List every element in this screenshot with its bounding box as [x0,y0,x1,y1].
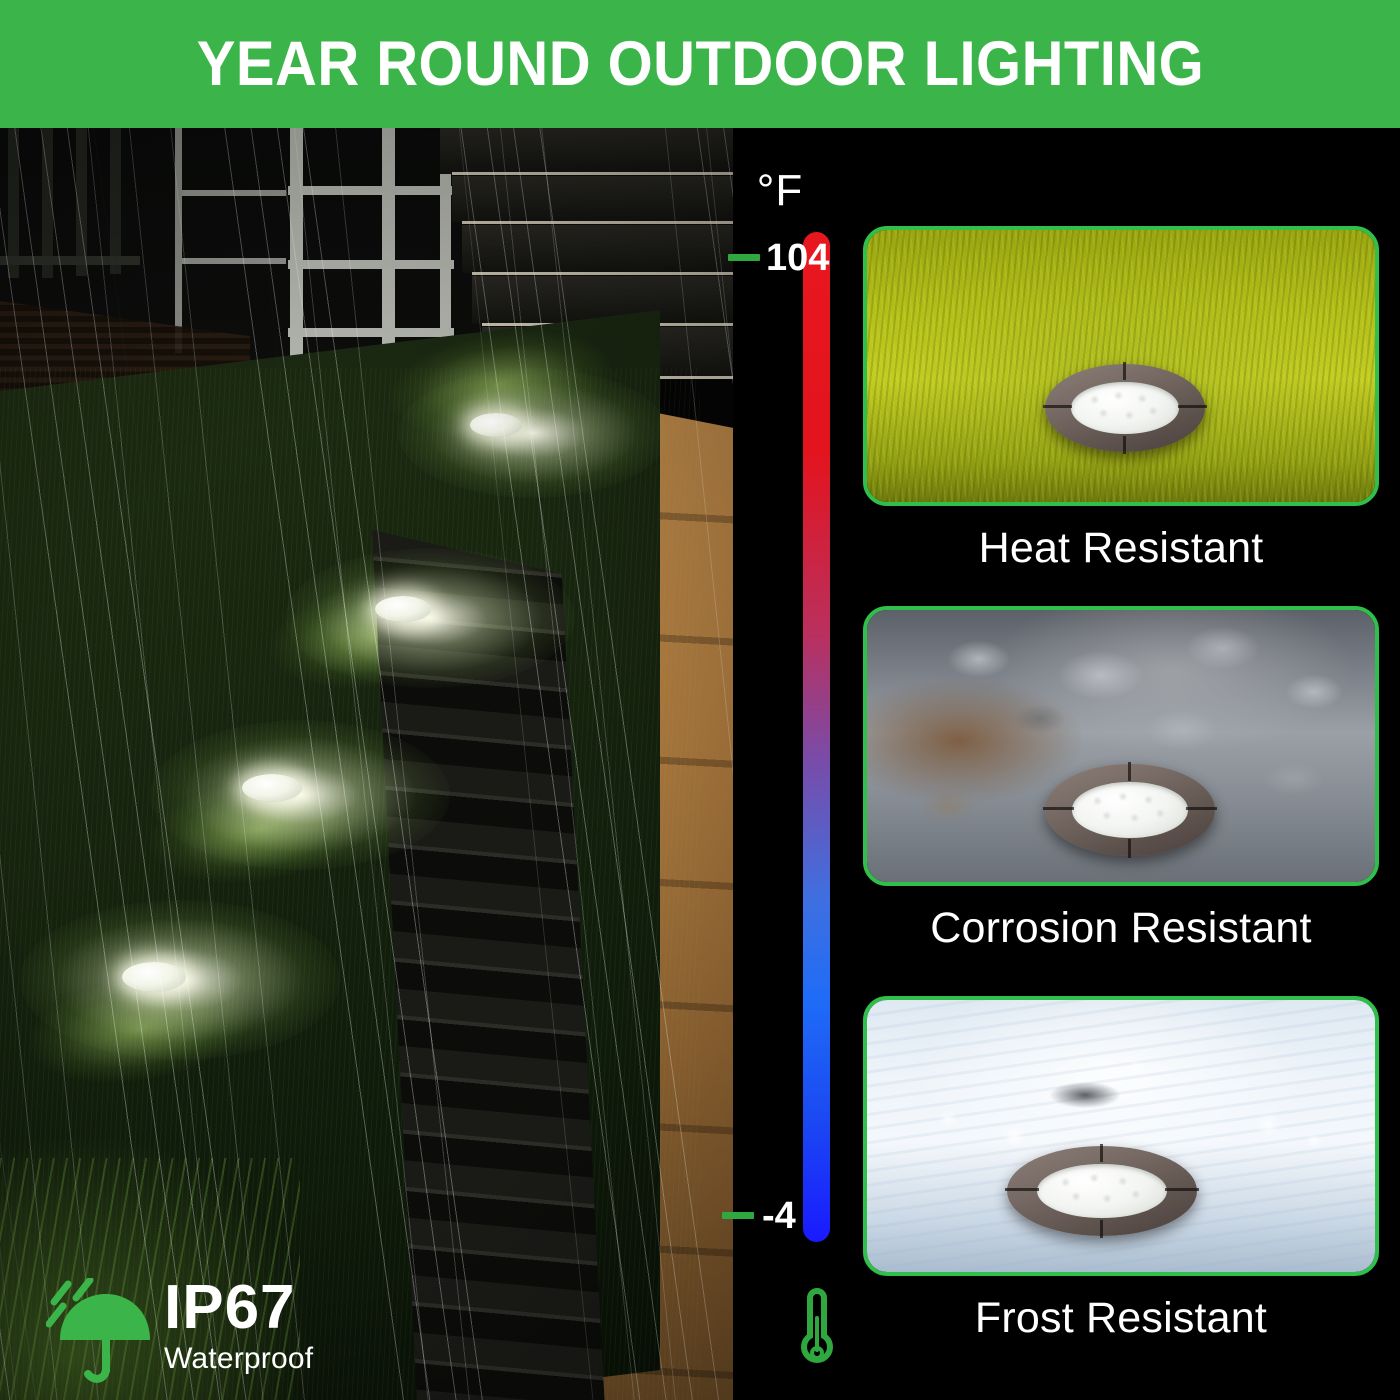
umbrella-rain-icon [46,1278,154,1386]
feature-card-frost-resistant[interactable] [863,996,1379,1276]
page-title: YEAR ROUND OUTDOOR LIGHTING [196,28,1203,100]
main-product-photo [0,128,733,1400]
temperature-gauge: °F 104 -4 [700,128,860,1400]
temperature-unit-label: °F [700,166,860,216]
thermometer-icon [794,1288,840,1372]
header-banner: YEAR ROUND OUTDOOR LIGHTING [0,0,1400,128]
ground-light-fixture [1045,364,1205,452]
vignette [0,128,733,1400]
ground-light-fixture [1045,764,1215,856]
snow-debris [1050,1082,1120,1108]
tick-high-label: 104 [766,239,829,277]
ground-light-fixture [1007,1146,1197,1236]
ip67-waterproof-badge: IP67 Waterproof [46,1272,376,1392]
ip67-code: IP67 [164,1272,313,1344]
product-feature-infographic: YEAR ROUND OUTDOOR LIGHTING [0,0,1400,1400]
feature-card-heat-resistant[interactable] [863,226,1379,506]
tick-high [728,254,760,261]
temperature-gradient-bar [803,232,830,1242]
ip67-subtitle: Waterproof [164,1342,313,1376]
feature-card-frost-label: Frost Resistant [863,1294,1379,1343]
tick-low [722,1212,754,1219]
feature-card-corrosion-label: Corrosion Resistant [863,904,1379,953]
feature-card-heat-label: Heat Resistant [863,524,1379,573]
feature-card-corrosion-resistant[interactable] [863,606,1379,886]
ip67-text-block: IP67 Waterproof [164,1272,313,1376]
tick-low-label: -4 [762,1197,796,1235]
